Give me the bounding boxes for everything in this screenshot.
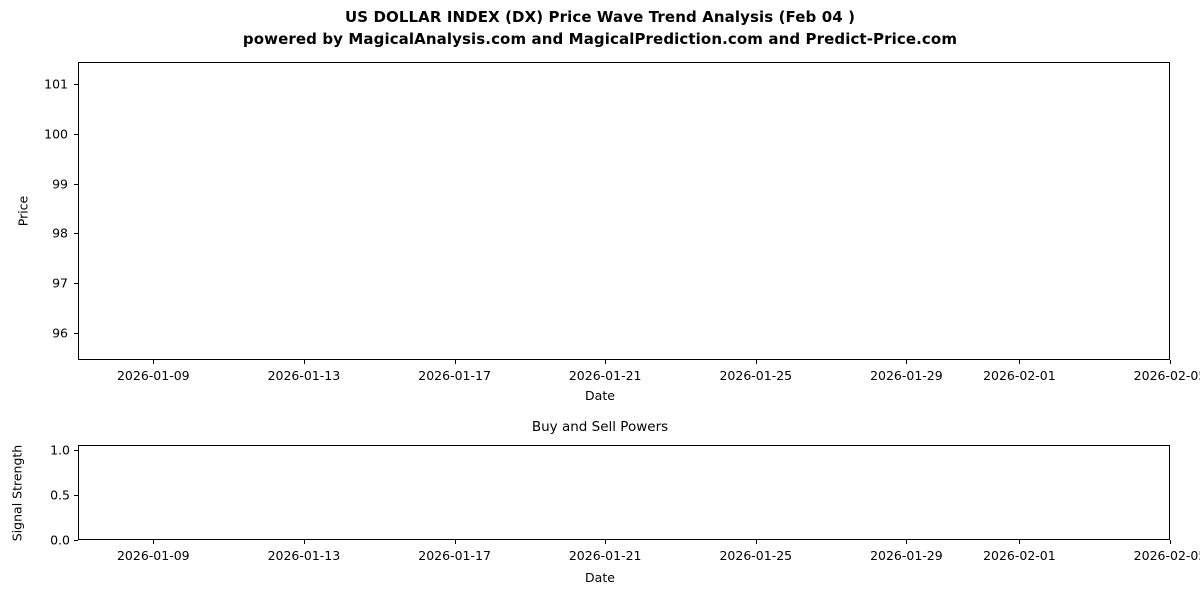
price-x-tick-label: 2026-01-21 xyxy=(569,368,642,383)
bar-x-tick-mark xyxy=(304,540,305,544)
price-y-tick-label: 96 xyxy=(8,325,68,340)
bar-x-tick-mark xyxy=(906,540,907,544)
bar-x-tick-mark xyxy=(153,540,154,544)
price-y-axis-label: Price xyxy=(14,62,32,360)
bar-x-tick-label: 2026-01-29 xyxy=(870,548,943,563)
price-x-tick-mark xyxy=(756,360,757,364)
price-x-tick-mark xyxy=(153,360,154,364)
price-y-tick-label: 97 xyxy=(8,276,68,291)
bar-x-tick-label: 2026-01-25 xyxy=(719,548,792,563)
bar-y-tick-label: 0.5 xyxy=(10,487,70,502)
bar-x-tick-mark xyxy=(455,540,456,544)
bar-x-tick-mark xyxy=(605,540,606,544)
price-x-tick-label: 2026-01-09 xyxy=(117,368,190,383)
bar-x-tick-mark xyxy=(1170,540,1171,544)
price-chart-panel: MagicalAnalysis.com MagicalPrediction.co… xyxy=(78,62,1170,360)
price-panel-border xyxy=(78,62,1170,360)
bar-x-tick-label: 2026-02-05 xyxy=(1134,548,1200,563)
bar-y-tick-mark xyxy=(74,540,78,541)
bar-y-tick-label: 0.0 xyxy=(10,533,70,548)
price-x-tick-mark xyxy=(1170,360,1171,364)
price-y-axis-label-text: Price xyxy=(16,196,31,227)
price-y-tick-label: 101 xyxy=(8,77,68,92)
bar-x-tick-mark xyxy=(1019,540,1020,544)
price-x-tick-label: 2026-02-05 xyxy=(1134,368,1200,383)
bar-panel-border xyxy=(78,445,1170,540)
price-x-tick-mark xyxy=(455,360,456,364)
page-subtitle: powered by MagicalAnalysis.com and Magic… xyxy=(0,28,1200,50)
bar-x-tick-label: 2026-01-17 xyxy=(418,548,491,563)
bar-chart-title: Buy and Sell Powers xyxy=(0,419,1200,435)
price-x-tick-mark xyxy=(1019,360,1020,364)
bar-x-tick-label: 2026-02-01 xyxy=(983,548,1056,563)
price-x-axis-label: Date xyxy=(0,388,1200,403)
bar-x-tick-label: 2026-01-21 xyxy=(569,548,642,563)
price-y-tick-label: 99 xyxy=(8,176,68,191)
chart-page: US DOLLAR INDEX (DX) Price Wave Trend An… xyxy=(0,0,1200,600)
price-x-tick-label: 2026-01-13 xyxy=(268,368,341,383)
bar-y-tick-label: 1.0 xyxy=(10,442,70,457)
page-title: US DOLLAR INDEX (DX) Price Wave Trend An… xyxy=(0,6,1200,28)
price-x-tick-mark xyxy=(605,360,606,364)
price-x-tick-label: 2026-01-29 xyxy=(870,368,943,383)
price-x-tick-mark xyxy=(906,360,907,364)
price-y-tick-label: 100 xyxy=(8,127,68,142)
price-x-tick-label: 2026-01-25 xyxy=(719,368,792,383)
price-x-tick-mark xyxy=(304,360,305,364)
price-x-tick-label: 2026-01-17 xyxy=(418,368,491,383)
price-y-tick-label: 98 xyxy=(8,226,68,241)
bar-x-tick-label: 2026-01-09 xyxy=(117,548,190,563)
bar-x-axis-label: Date xyxy=(0,570,1200,585)
price-x-tick-label: 2026-02-01 xyxy=(983,368,1056,383)
bar-chart-panel: MagicalAnalysis.com MagicalPrediction.co… xyxy=(78,445,1170,540)
bar-x-tick-label: 2026-01-13 xyxy=(268,548,341,563)
bar-x-tick-mark xyxy=(756,540,757,544)
title-block: US DOLLAR INDEX (DX) Price Wave Trend An… xyxy=(0,6,1200,50)
